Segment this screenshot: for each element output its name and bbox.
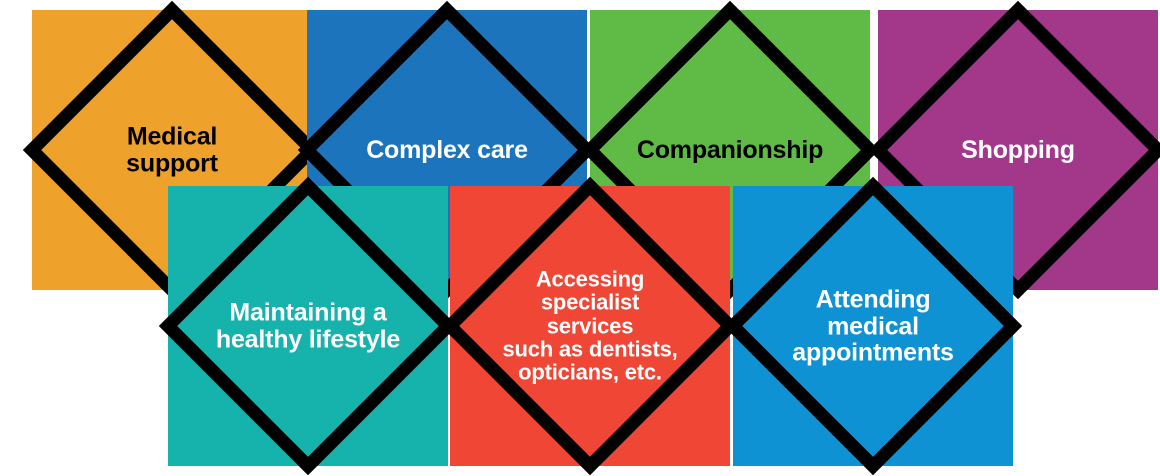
tile-attending-medical-appointments[interactable]: [733, 186, 1013, 466]
tile-maintaining-a-healthy-lifestyle[interactable]: [168, 186, 448, 466]
tile-accessing-specialist-services[interactable]: [450, 186, 730, 466]
tiles-canvas: [0, 0, 1160, 476]
diamond-grid-diagram: Medical supportComplex careCompanionship…: [0, 0, 1160, 476]
